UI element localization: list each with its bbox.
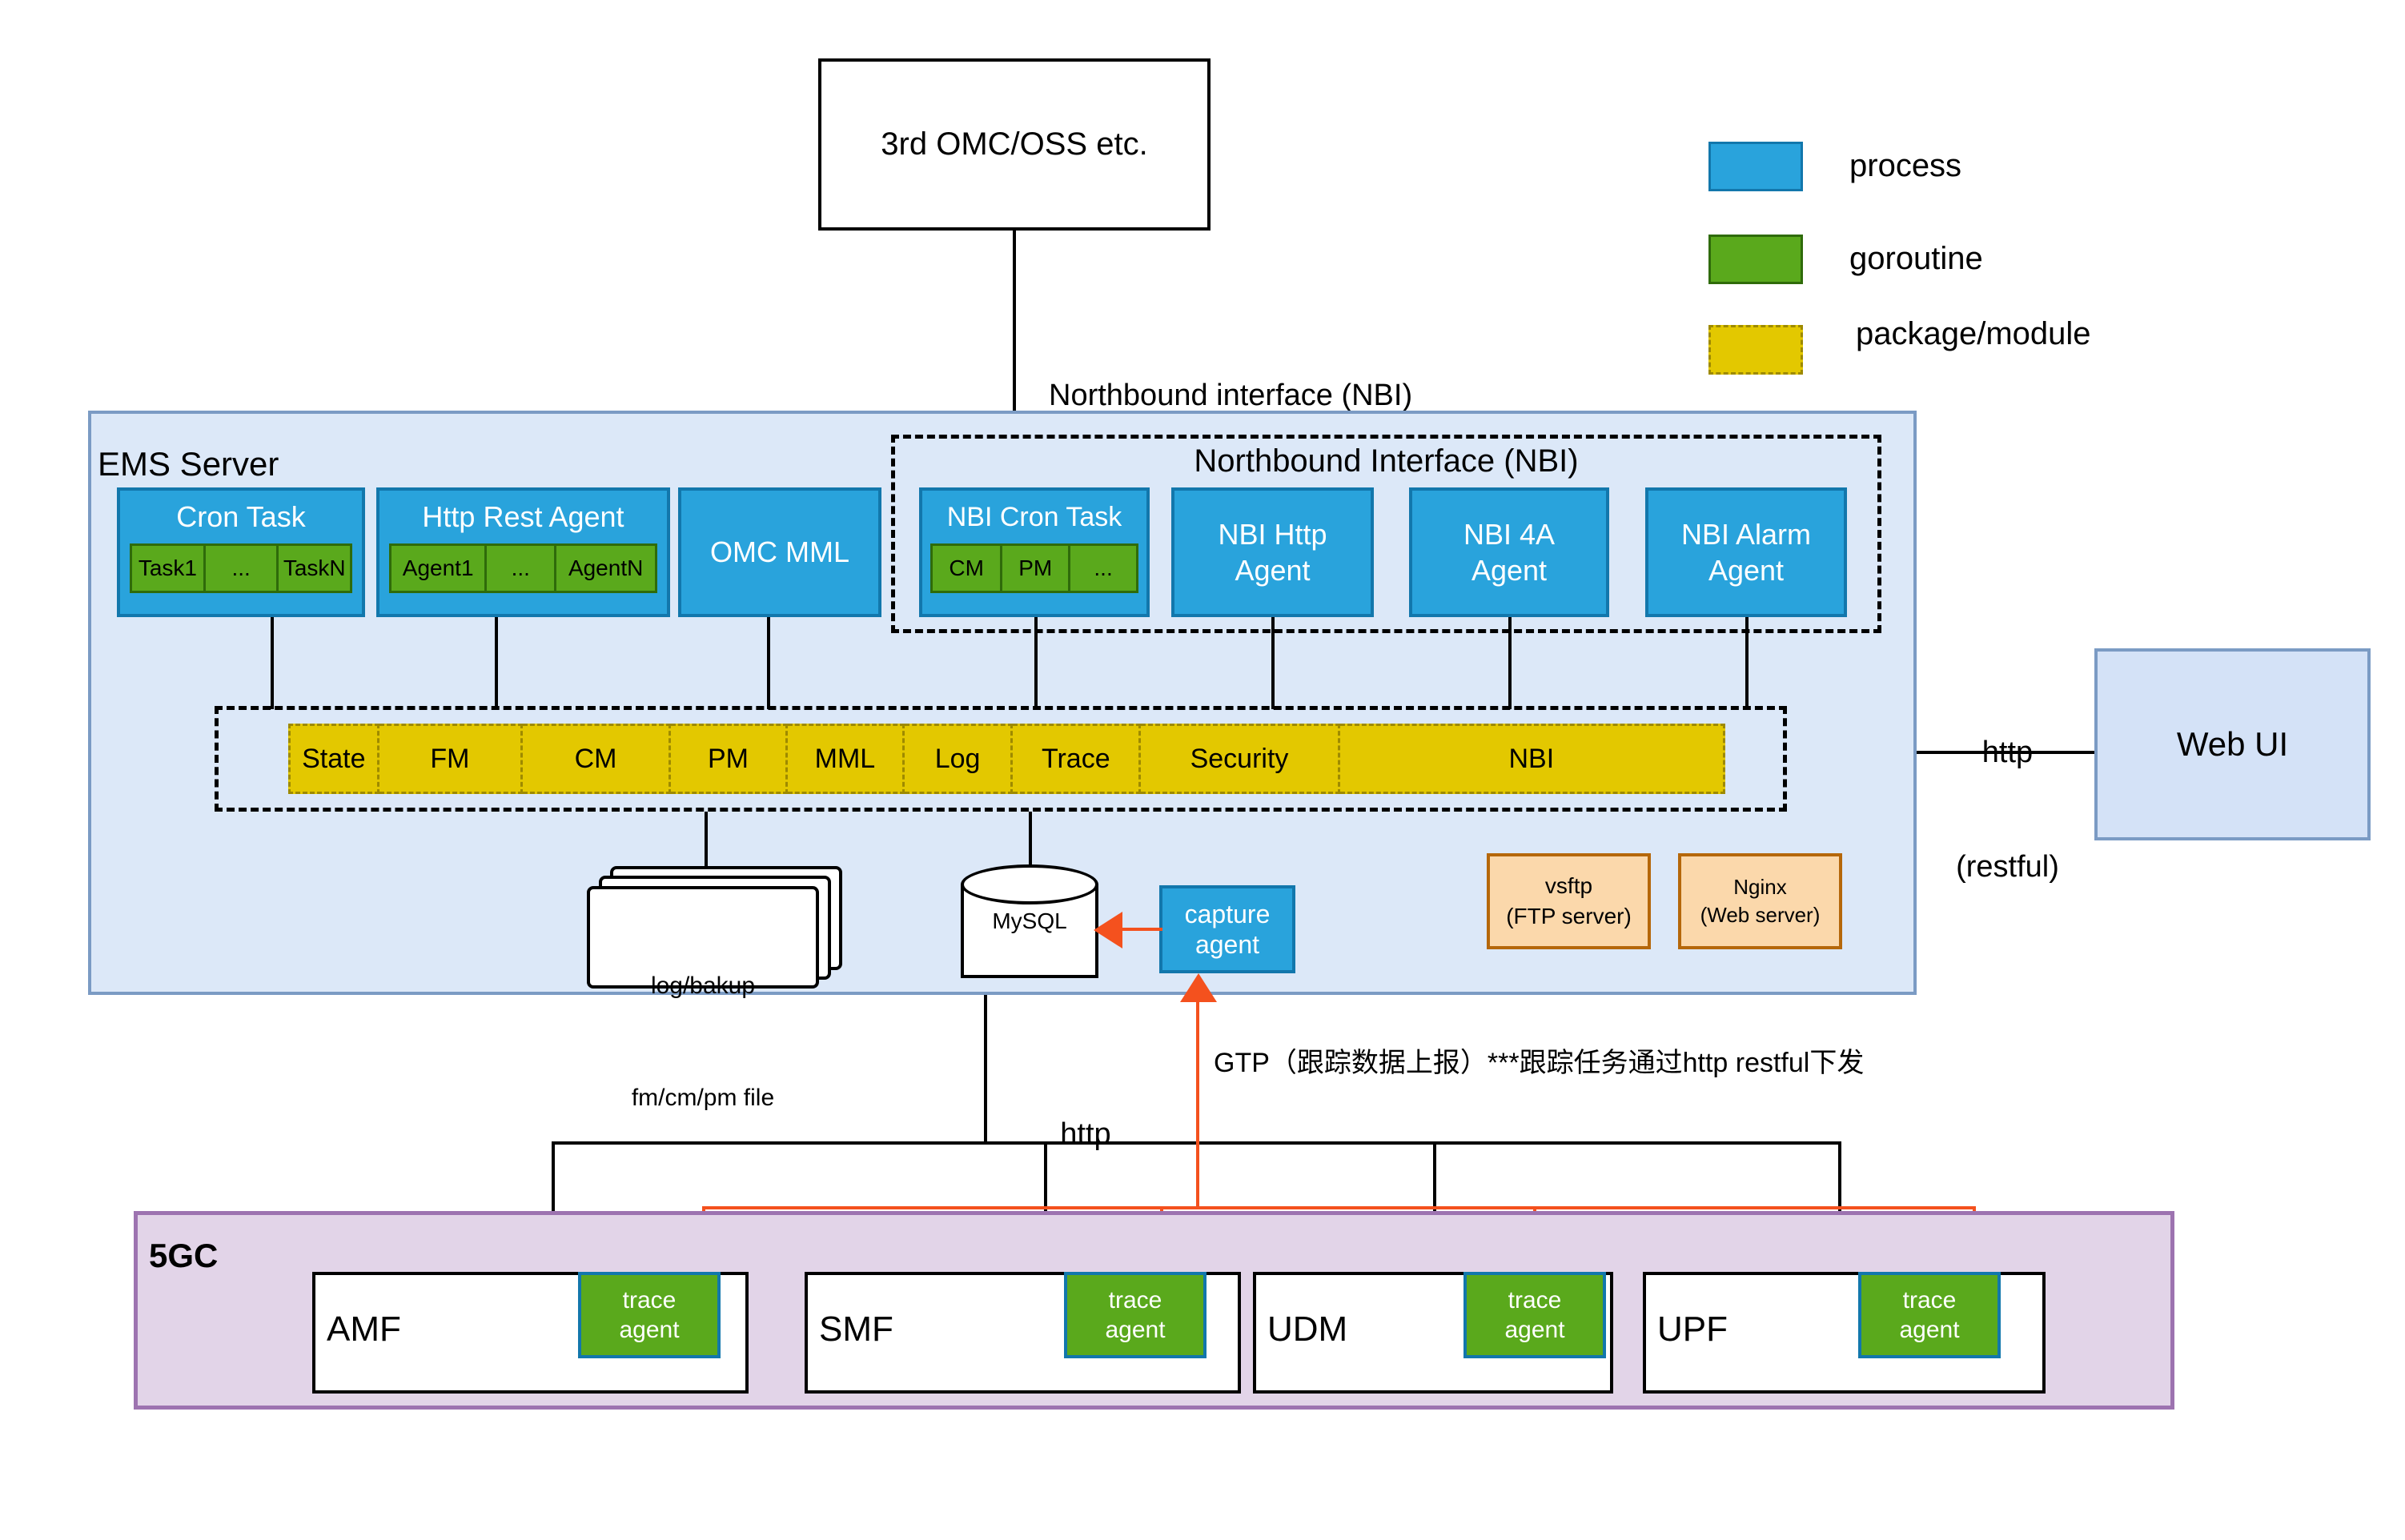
goroutine-nbi-cm[interactable]: CM [930, 543, 1002, 593]
connector-http-rest-agent-to-packages [495, 617, 498, 709]
package-security[interactable]: Security [1141, 724, 1339, 794]
file-store-label: log/bakup fm/cm/pm file [587, 893, 819, 1191]
process-capture-agent-label: capture agent [1185, 899, 1271, 960]
trace-agent-amf[interactable]: trace agent [578, 1272, 721, 1358]
arrow-capture-agent-to-mysql-line [1118, 928, 1162, 931]
nf-smf-label: SMF [819, 1309, 893, 1350]
process-nbi-http-agent-label: NBI Http Agent [1218, 516, 1327, 588]
trace-agent-udm[interactable]: trace agent [1463, 1272, 1606, 1358]
goroutine-nbi-pm[interactable]: PM [1002, 543, 1070, 593]
southbound-http-line1: http [1006, 1116, 1166, 1154]
goroutine-agent1[interactable]: Agent1 [389, 543, 487, 593]
gtp-trunk-line [1196, 996, 1199, 1208]
server-vsftp[interactable]: vsftp (FTP server) [1487, 853, 1651, 949]
server-vsftp-line2: (FTP server) [1506, 901, 1632, 932]
trace-agent-amf-label: trace agent [619, 1285, 679, 1345]
web-ui-link-label: http (restful) [1925, 658, 2090, 962]
web-ui-box[interactable]: Web UI [2094, 648, 2371, 840]
legend-label-package: package/module [1856, 316, 2091, 352]
goroutine-taskn[interactable]: TaskN [279, 543, 352, 593]
legend-label-goroutine: goroutine [1849, 241, 1983, 277]
mysql-database-label: MySQL [961, 904, 1098, 938]
process-http-rest-agent[interactable]: Http Rest Agent Agent1 ... AgentN [376, 487, 670, 617]
package-trace[interactable]: Trace [1013, 724, 1141, 794]
package-log[interactable]: Log [905, 724, 1013, 794]
legend-swatch-package [1708, 325, 1803, 375]
goroutine-task1[interactable]: Task1 [130, 543, 206, 593]
nbi-group-title: Northbound Interface (NBI) [891, 442, 1881, 480]
server-nginx[interactable]: Nginx (Web server) [1678, 853, 1842, 949]
connector-nbi-alarm-agent-to-packages [1745, 617, 1749, 709]
connector-omc-mml-to-packages [767, 617, 770, 709]
gtp-distribution-bus [702, 1206, 1976, 1209]
server-vsftp-line1: vsftp [1545, 871, 1592, 901]
process-nbi-alarm-agent[interactable]: NBI Alarm Agent [1645, 487, 1847, 617]
process-omc-mml[interactable]: OMC MML [678, 487, 881, 617]
process-nbi-cron-task[interactable]: NBI Cron Task CM PM ... [919, 487, 1150, 617]
nf-amf-label: AMF [327, 1309, 401, 1350]
third-party-omc-oss-label: 3rd OMC/OSS etc. [881, 126, 1147, 162]
process-nbi-http-agent[interactable]: NBI Http Agent [1171, 487, 1374, 617]
package-cm[interactable]: CM [523, 724, 671, 794]
process-nbi-cron-task-label: NBI Cron Task [922, 491, 1146, 543]
mysql-database-top [961, 864, 1098, 904]
legend-label-process: process [1849, 148, 1961, 184]
package-pm[interactable]: PM [671, 724, 788, 794]
legend-swatch-goroutine [1708, 235, 1803, 284]
process-nbi-4a-agent[interactable]: NBI 4A Agent [1409, 487, 1609, 617]
package-fm[interactable]: FM [379, 724, 524, 794]
package-state[interactable]: State [288, 724, 379, 794]
goroutine-agent-ellipsis[interactable]: ... [487, 543, 556, 593]
web-ui-link-line1: http [1925, 734, 2090, 772]
connector-omc-to-ems [1013, 231, 1016, 412]
trace-agent-upf[interactable]: trace agent [1858, 1272, 2001, 1358]
gtp-trunk-arrow-head [1180, 973, 1217, 1002]
connector-nbi-4a-agent-to-packages [1508, 617, 1512, 709]
file-store-line1: log/bakup [587, 968, 819, 1005]
web-ui-link-line2: (restful) [1925, 848, 2090, 887]
connector-packages-to-file-store [705, 812, 708, 866]
process-cron-task-label: Cron Task [120, 491, 362, 543]
web-ui-label: Web UI [2177, 725, 2288, 764]
server-nginx-line1: Nginx [1733, 873, 1786, 901]
goroutine-nbi-ellipsis[interactable]: ... [1070, 543, 1138, 593]
package-mml[interactable]: MML [788, 724, 905, 794]
connector-ems-to-core-trunk [984, 995, 987, 1141]
third-party-omc-oss-box: 3rd OMC/OSS etc. [818, 58, 1211, 231]
arrow-capture-agent-to-mysql-head [1094, 912, 1122, 948]
goroutine-task-ellipsis[interactable]: ... [206, 543, 279, 593]
connector-nbi-http-agent-to-packages [1271, 617, 1275, 709]
legend-swatch-process [1708, 142, 1803, 191]
package-nbi[interactable]: NBI [1340, 724, 1725, 794]
connector-cron-task-to-packages [271, 617, 274, 709]
process-omc-mml-label: OMC MML [710, 535, 849, 569]
gtp-note-label: GTP（跟踪数据上报）***跟踪任务通过http restful下发 [1214, 1041, 1864, 1080]
nf-udm-label: UDM [1267, 1309, 1347, 1350]
goroutine-agentn[interactable]: AgentN [556, 543, 657, 593]
package-module-bar: State FM CM PM MML Log Trace Security NB… [288, 724, 1725, 794]
server-nginx-line2: (Web server) [1700, 901, 1821, 929]
trace-agent-smf-label: trace agent [1105, 1285, 1165, 1345]
process-capture-agent[interactable]: capture agent [1159, 885, 1295, 973]
nbi-link-line1: Northbound interface (NBI) [1049, 376, 1412, 415]
process-http-rest-agent-label: Http Rest Agent [379, 491, 667, 543]
nf-upf-label: UPF [1657, 1309, 1728, 1350]
process-cron-task[interactable]: Cron Task Task1 ... TaskN [117, 487, 365, 617]
core-network-title: 5GC [149, 1237, 218, 1275]
process-nbi-alarm-agent-label: NBI Alarm Agent [1681, 516, 1811, 588]
trace-agent-upf-label: trace agent [1899, 1285, 1959, 1345]
file-store-line2: fm/cm/pm file [587, 1080, 819, 1117]
trace-agent-smf[interactable]: trace agent [1064, 1272, 1207, 1358]
ems-server-title: EMS Server [98, 445, 279, 483]
diagram-canvas: 3rd OMC/OSS etc. Northbound interface (N… [0, 0, 2405, 1540]
connector-nbi-cron-task-to-packages [1034, 617, 1038, 709]
trace-agent-udm-label: trace agent [1504, 1285, 1564, 1345]
process-nbi-4a-agent-label: NBI 4A Agent [1463, 516, 1555, 588]
